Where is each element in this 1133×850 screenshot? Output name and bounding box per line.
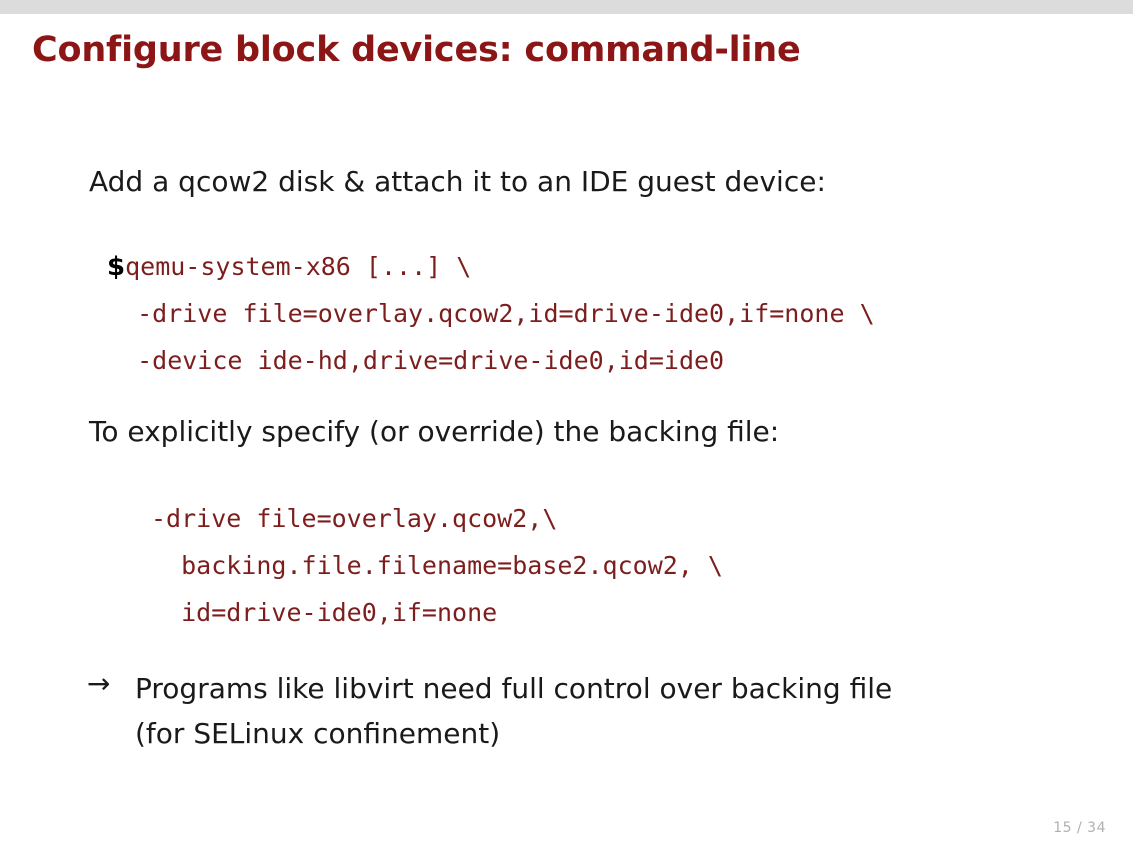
conclusion-row: → Programs like libvirt need full contro… — [87, 666, 987, 757]
top-decorative-bar — [0, 0, 1133, 14]
intro-paragraph: Add a qcow2 disk & attach it to an IDE g… — [89, 164, 826, 200]
code-block-backing-file: -drive file=overlay.qcow2,\ backing.file… — [151, 495, 723, 636]
conclusion-text: Programs like libvirt need full control … — [135, 666, 925, 757]
shell-prompt-icon: $ — [107, 252, 125, 282]
override-paragraph: To explicitly specify (or override) the … — [89, 414, 779, 450]
code-block-qemu-command: $qemu-system-x86 [...] \ -drive file=ove… — [107, 243, 875, 384]
conclusion-paragraph: → Programs like libvirt need full contro… — [87, 666, 987, 757]
slide: Configure block devices: command-line Ad… — [0, 0, 1133, 850]
code-line: -drive file=overlay.qcow2,\ — [151, 495, 723, 542]
code-line: $qemu-system-x86 [...] \ — [107, 243, 875, 290]
page-number: 15 / 34 — [1053, 820, 1106, 836]
page-title: Configure block devices: command-line — [32, 30, 801, 70]
code-line: -drive file=overlay.qcow2,id=drive-ide0,… — [107, 290, 875, 337]
code-line-text: qemu-system-x86 [...] \ — [125, 252, 471, 281]
right-arrow-icon: → — [87, 666, 135, 702]
code-line: backing.file.filename=base2.qcow2, \ — [151, 542, 723, 589]
code-line: -device ide-hd,drive=drive-ide0,id=ide0 — [107, 337, 875, 384]
code-line: id=drive-ide0,if=none — [151, 589, 723, 636]
